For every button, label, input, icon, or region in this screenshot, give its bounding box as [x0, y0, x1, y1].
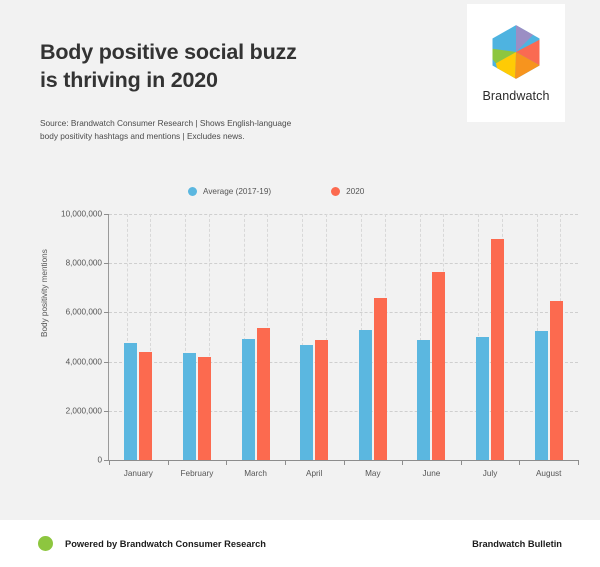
y-tick-label: 8,000,000: [66, 259, 102, 268]
bar-average-march[interactable]: [242, 339, 255, 460]
bar-group: [461, 214, 520, 460]
page-title-line-1: Body positive social buzz: [40, 38, 400, 66]
x-tick-mark: [344, 460, 345, 465]
bar-current-may[interactable]: [374, 298, 387, 460]
header: Body positive social buzz is thriving in…: [0, 0, 600, 185]
footer-powered-by-label: Powered by Brandwatch Consumer Research: [65, 539, 266, 549]
source-note-line-2: body positivity hashtags and mentions | …: [40, 130, 370, 143]
x-tick-mark: [519, 460, 520, 465]
page-title-line-2: is thriving in 2020: [40, 66, 400, 94]
y-tick-label: 0: [97, 456, 102, 465]
bar-group: [344, 214, 403, 460]
y-tick-label: 10,000,000: [61, 210, 102, 219]
page-title: Body positive social buzz is thriving in…: [40, 38, 400, 95]
bar-group: [109, 214, 168, 460]
x-tick-mark: [578, 460, 579, 465]
bar-average-june[interactable]: [417, 340, 430, 460]
legend-label-2020: 2020: [346, 187, 364, 196]
x-tick-label-march: March: [244, 469, 267, 478]
brandwatch-logo-card: Brandwatch: [467, 4, 565, 122]
bar-average-july[interactable]: [476, 337, 489, 460]
x-tick-label-january: January: [124, 469, 153, 478]
footer: Powered by Brandwatch Consumer Research …: [0, 520, 600, 567]
bar-group: [226, 214, 285, 460]
bar-current-march[interactable]: [257, 328, 270, 460]
brandwatch-wordmark: Brandwatch: [482, 89, 549, 103]
bar-average-february[interactable]: [183, 353, 196, 460]
x-tick-mark: [109, 460, 110, 465]
x-tick-mark: [402, 460, 403, 465]
bar-group: [519, 214, 578, 460]
bar-average-may[interactable]: [359, 330, 372, 460]
y-tick-label: 4,000,000: [66, 357, 102, 366]
bar-average-january[interactable]: [124, 343, 137, 460]
bar-current-august[interactable]: [550, 301, 563, 460]
bar-current-june[interactable]: [432, 272, 445, 460]
legend-item-2020[interactable]: 2020: [331, 187, 364, 196]
green-dot-icon: [38, 536, 53, 551]
x-tick-mark: [285, 460, 286, 465]
x-tick-mark: [226, 460, 227, 465]
legend-swatch-2020: [331, 187, 340, 196]
x-tick-mark: [461, 460, 462, 465]
legend-item-average[interactable]: Average (2017-19): [188, 187, 271, 196]
y-axis-title: Body positivity mentions: [40, 249, 49, 337]
x-tick-label-april: April: [306, 469, 322, 478]
bar-average-april[interactable]: [300, 345, 313, 460]
bar-current-january[interactable]: [139, 352, 152, 460]
bar-current-april[interactable]: [315, 340, 328, 460]
x-tick-label-may: May: [365, 469, 380, 478]
bar-group: [285, 214, 344, 460]
chart-container: Average (2017-19) 2020 Body positivity m…: [0, 185, 600, 515]
legend-label-average: Average (2017-19): [203, 187, 271, 196]
x-tick-label-august: August: [536, 469, 562, 478]
bar-average-august[interactable]: [535, 331, 548, 460]
footer-bulletin-label: Brandwatch Bulletin: [472, 539, 562, 549]
source-note-line-1: Source: Brandwatch Consumer Research | S…: [40, 117, 370, 130]
x-tick-label-february: February: [181, 469, 214, 478]
x-tick-label-july: July: [483, 469, 498, 478]
x-tick-mark: [168, 460, 169, 465]
footer-powered-by: Powered by Brandwatch Consumer Research: [38, 536, 266, 551]
source-note: Source: Brandwatch Consumer Research | S…: [40, 117, 370, 143]
brandwatch-hexagon-logo-icon: [488, 24, 544, 80]
bar-current-july[interactable]: [491, 239, 504, 460]
plot-area: 02,000,0004,000,0006,000,0008,000,00010,…: [108, 214, 578, 461]
legend-swatch-average: [188, 187, 197, 196]
bar-current-february[interactable]: [198, 357, 211, 460]
x-tick-label-june: June: [423, 469, 441, 478]
y-tick-label: 6,000,000: [66, 308, 102, 317]
bar-group: [168, 214, 227, 460]
y-tick-label: 2,000,000: [66, 406, 102, 415]
bar-group: [402, 214, 461, 460]
chart-legend: Average (2017-19) 2020: [188, 187, 364, 196]
